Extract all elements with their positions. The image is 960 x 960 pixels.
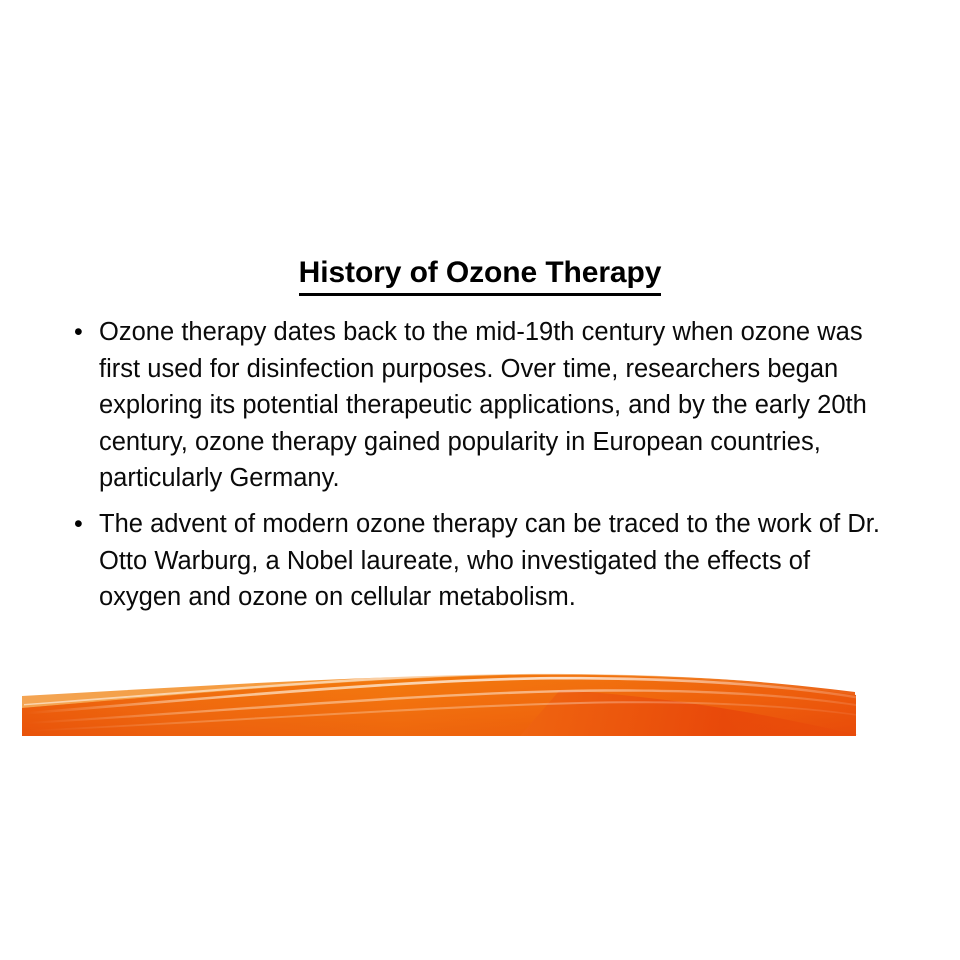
- bullet-list: • Ozone therapy dates back to the mid-19…: [70, 314, 900, 625]
- page-title: History of Ozone Therapy: [0, 256, 960, 296]
- bullet-point-icon: •: [70, 506, 99, 543]
- list-item: • Ozone therapy dates back to the mid-19…: [70, 314, 900, 497]
- list-item-text: The advent of modern ozone therapy can b…: [99, 506, 885, 616]
- list-item: • The advent of modern ozone therapy can…: [70, 506, 900, 616]
- orange-wave-svg: [0, 650, 960, 750]
- page-title-text: History of Ozone Therapy: [299, 257, 662, 296]
- orange-wave-graphic: [0, 650, 960, 750]
- list-item-text: Ozone therapy dates back to the mid-19th…: [99, 314, 885, 497]
- bullet-point-icon: •: [70, 314, 99, 351]
- slide-canvas: History of Ozone Therapy • Ozone therapy…: [0, 0, 960, 960]
